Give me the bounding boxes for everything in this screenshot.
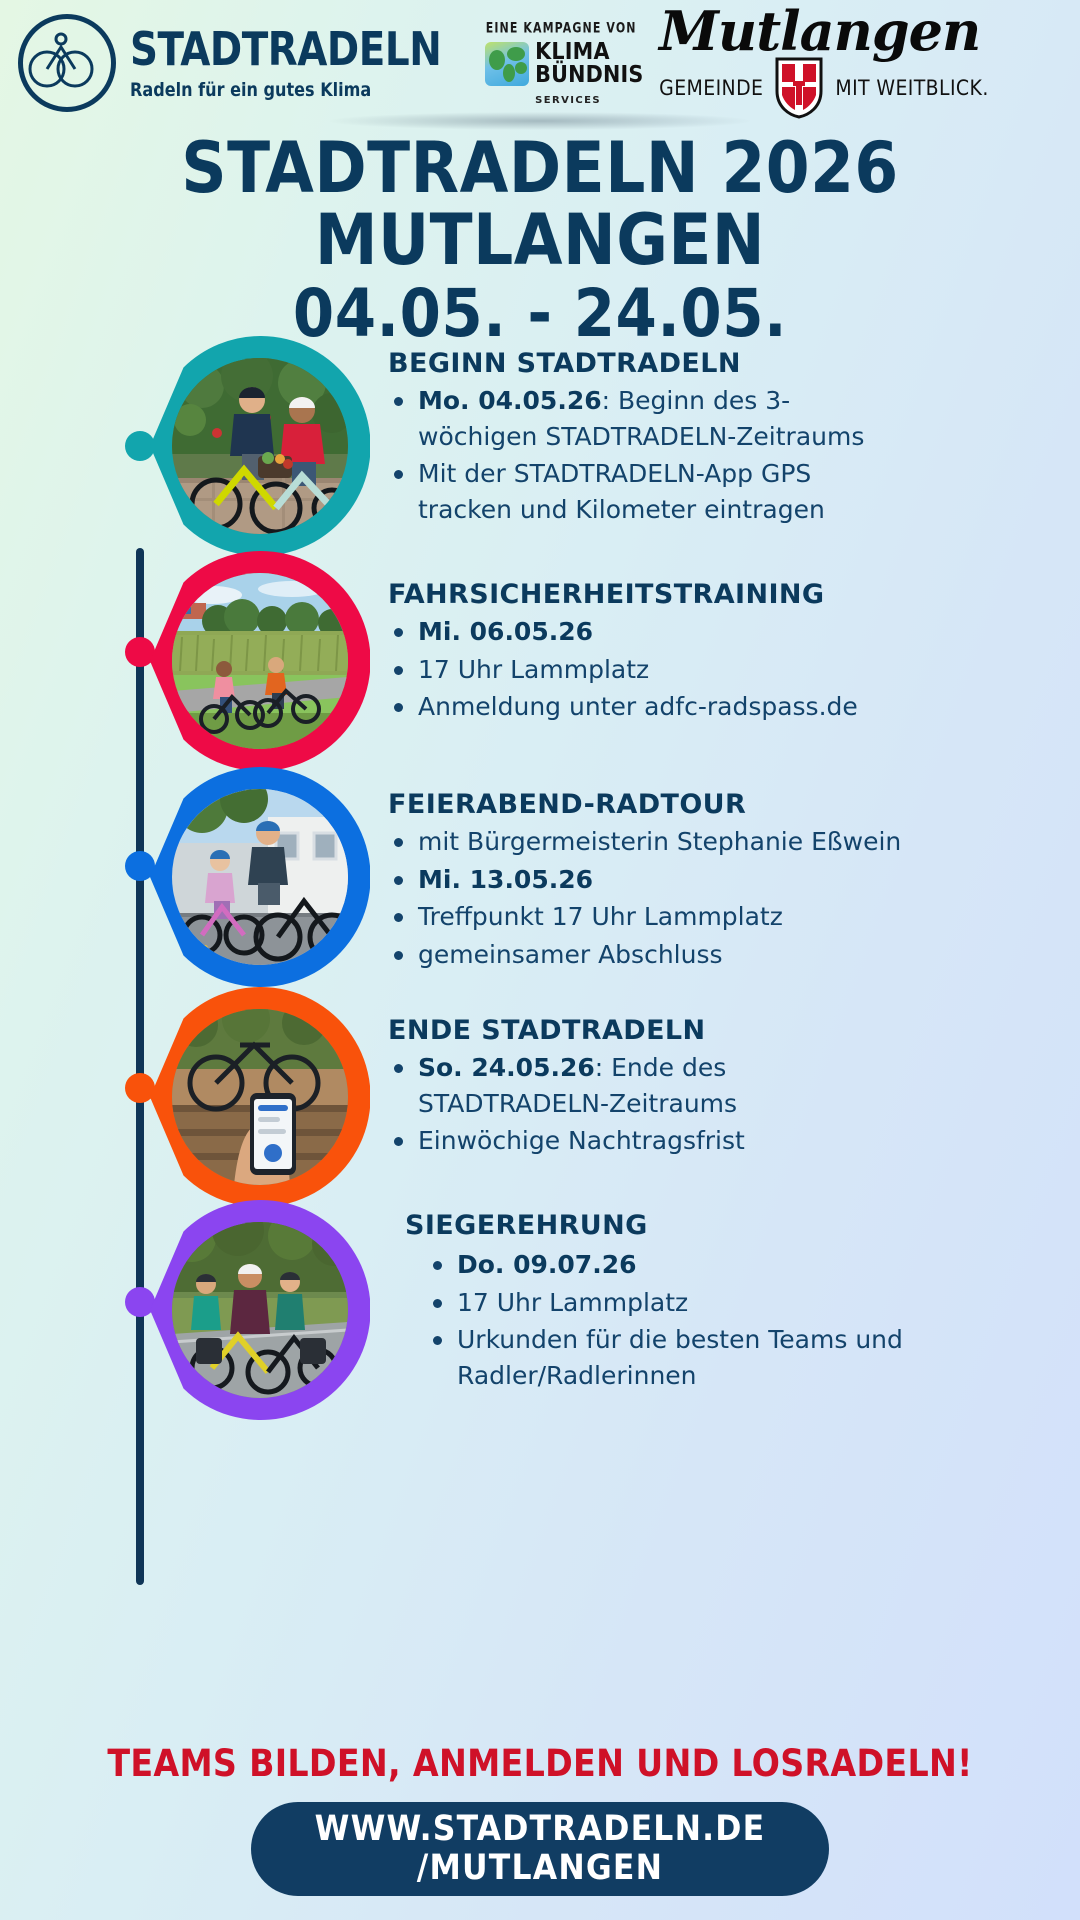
list-item: Urkunden für die besten Teams und Radler…	[427, 1322, 965, 1393]
event-title-4: ENDE STADTRADELN	[388, 1015, 858, 1046]
event-bullets-3: mit Bürgermeisterin Stephanie Eßwein Mi.…	[388, 824, 988, 972]
klima-line-2: BÜNDNIS	[535, 64, 643, 87]
bullet-strong: Mi. 06.05.26	[418, 617, 593, 646]
bullet-text: Einwöchige Nachtragsfrist	[418, 1126, 745, 1155]
list-item: mit Bürgermeisterin Stephanie Eßwein	[388, 824, 988, 860]
mutlangen-coat-of-arms-icon	[773, 57, 825, 119]
website-button[interactable]: WWW.STADTRADELN.DE /MUTLANGEN	[251, 1802, 829, 1896]
medallion-4	[150, 987, 370, 1207]
photo-father-and-child	[172, 789, 348, 965]
bullet-text: mit Bürgermeisterin Stephanie Eßwein	[418, 827, 901, 856]
photo-cyclists-field-path	[172, 573, 348, 749]
title-line-2: MUTLANGEN	[0, 205, 1080, 275]
photo-two-cyclists	[172, 358, 348, 534]
content-4: ENDE STADTRADELN So. 24.05.26: Ende des …	[388, 1015, 858, 1161]
list-item: 17 Uhr Lammplatz	[388, 652, 948, 688]
mutlangen-logo: Mutlangen GEMEINDE MIT WEITBLICK.	[659, 7, 989, 120]
bullet-text: 17 Uhr Lammplatz	[457, 1288, 688, 1317]
bullet-text: Mit der STADTRADELN-App GPS tracken und …	[418, 459, 825, 524]
medallion-1	[150, 336, 370, 556]
event-bullets-5: Do. 09.07.26 17 Uhr Lammplatz Urkunden f…	[405, 1247, 965, 1393]
klima-line-1: KLIMA	[535, 41, 643, 64]
content-5: SIEGEREHRUNG Do. 09.07.26 17 Uhr Lammpla…	[405, 1210, 965, 1395]
list-item: gemeinsamer Abschluss	[388, 937, 988, 973]
photo-phone-with-bike	[172, 1009, 348, 1185]
bullet-text: Treffpunkt 17 Uhr Lammplatz	[418, 902, 783, 931]
bullet-text: 17 Uhr Lammplatz	[418, 655, 649, 684]
event-title-2: FAHRSICHERHEITSTRAINING	[388, 579, 948, 610]
bullet-text: Anmeldung unter adfc-radspass.de	[418, 692, 858, 721]
klima-services-label: SERVICES	[535, 95, 637, 106]
page-title: STADTRADELN 2026 MUTLANGEN 04.05. - 24.0…	[0, 133, 1080, 347]
medallion-5	[150, 1200, 370, 1420]
campaign-by-label: EINE KAMPAGNE VON	[485, 20, 637, 36]
list-item: 17 Uhr Lammplatz	[427, 1285, 965, 1321]
list-item: Einwöchige Nachtragsfrist	[388, 1123, 858, 1159]
mutlangen-weitblick-label: MIT WEITBLICK.	[835, 76, 988, 100]
list-item: Mi. 13.05.26	[388, 862, 988, 898]
content-3: FEIERABEND-RADTOUR mit Bürgermeisterin S…	[388, 789, 988, 974]
photo-group-of-cyclists	[172, 1222, 348, 1398]
stadtradeln-logo: STADTRADELN Radeln für ein gutes Klima	[18, 14, 461, 112]
bullet-strong: Mo. 04.05.26	[418, 386, 602, 415]
event-title-3: FEIERABEND-RADTOUR	[388, 789, 988, 820]
poster-root: STADTRADELN Radeln für ein gutes Klima E…	[0, 0, 1080, 1920]
list-item: Mi. 06.05.26	[388, 614, 948, 650]
content-2: FAHRSICHERHEITSTRAINING Mi. 06.05.26 17 …	[388, 579, 948, 727]
title-line-1: STADTRADELN 2026	[0, 133, 1080, 203]
stadtradeln-bicycle-icon	[18, 14, 116, 112]
event-title-5: SIEGEREHRUNG	[405, 1210, 965, 1241]
mutlangen-wordmark: Mutlangen	[659, 7, 989, 56]
event-bullets-4: So. 24.05.26: Ende des STADTRADELN-Zeitr…	[388, 1050, 858, 1159]
bullet-strong: So. 24.05.26	[418, 1053, 595, 1082]
bullet-strong: Mi. 13.05.26	[418, 865, 593, 894]
brand-name: STADTRADELN	[130, 26, 441, 72]
timeline-axis	[136, 548, 144, 1585]
list-item: Mit der STADTRADELN-App GPS tracken und …	[388, 456, 908, 527]
bullet-text: Urkunden für die besten Teams und Radler…	[457, 1325, 903, 1390]
brand-tagline: Radeln für ein gutes Klima	[130, 79, 441, 101]
cta-text: TEAMS BILDEN, ANMELDEN UND LOSRADELN!	[0, 1742, 1080, 1785]
klima-buendnis-logo: EINE KAMPAGNE VON KLIMA BÜNDNIS SERVICES	[485, 20, 637, 105]
event-bullets-2: Mi. 06.05.26 17 Uhr Lammplatz Anmeldung …	[388, 614, 948, 725]
medallion-3	[150, 767, 370, 987]
bullet-text: gemeinsamer Abschluss	[418, 940, 723, 969]
event-title-1: BEGINN STADTRADELN	[388, 348, 908, 379]
url-line-1: WWW.STADTRADELN.DE	[315, 1810, 766, 1849]
list-item: Anmeldung unter adfc-radspass.de	[388, 689, 948, 725]
stadtradeln-wordmark: STADTRADELN Radeln für ein gutes Klima	[130, 26, 461, 101]
list-item: Treffpunkt 17 Uhr Lammplatz	[388, 899, 988, 935]
url-line-2: /MUTLANGEN	[417, 1849, 663, 1888]
content-1: BEGINN STADTRADELN Mo. 04.05.26: Beginn …	[388, 348, 908, 529]
header-logo-bar: STADTRADELN Radeln für ein gutes Klima E…	[0, 0, 1080, 126]
list-item: Do. 09.07.26	[427, 1247, 965, 1283]
mutlangen-gemeinde-label: GEMEINDE	[659, 76, 763, 100]
globe-icon	[485, 42, 529, 86]
bullet-strong: Do. 09.07.26	[457, 1250, 637, 1279]
list-item: Mo. 04.05.26: Beginn des 3-wöchigen STAD…	[388, 383, 908, 454]
event-bullets-1: Mo. 04.05.26: Beginn des 3-wöchigen STAD…	[388, 383, 908, 527]
list-item: So. 24.05.26: Ende des STADTRADELN-Zeitr…	[388, 1050, 858, 1121]
medallion-2	[150, 551, 370, 771]
